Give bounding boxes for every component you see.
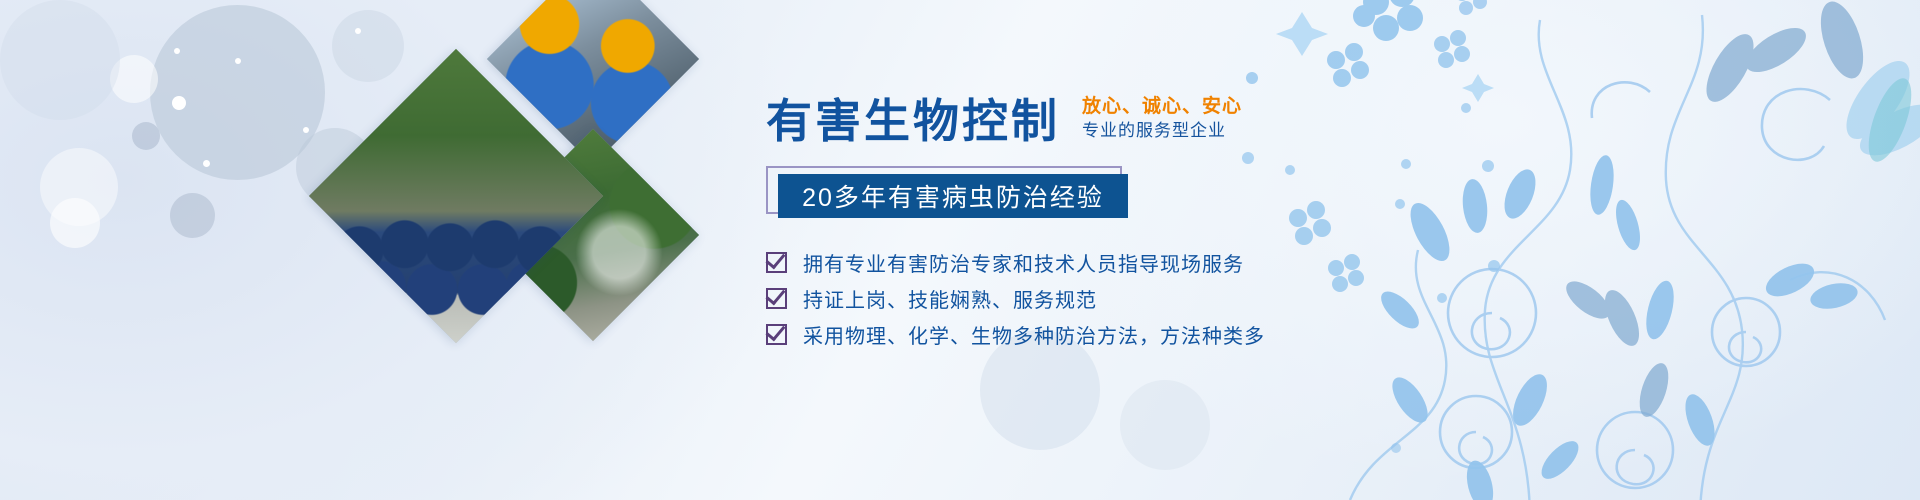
bokeh-circle [110,55,158,103]
bokeh-circle [170,193,215,238]
banner-content: 有害生物控制 放心、诚心、安心 专业的服务型企业 20多年有害病虫防治经验 拥有… [766,96,1526,352]
title-row: 有害生物控制 放心、诚心、安心 专业的服务型企业 [766,96,1526,144]
bokeh-circle [0,0,120,120]
bokeh-circle [40,148,118,226]
feature-label: 持证上岗、技能娴熟、服务规范 [803,284,1097,313]
bokeh-circle [150,5,325,180]
feature-list: 拥有专业有害防治专家和技术人员指导现场服务 持证上岗、技能娴熟、服务规范 采用物… [766,244,1526,352]
slogan-primary: 放心、诚心、安心 [1082,96,1242,118]
checkbox-checked-icon [766,324,787,345]
badge-fill: 20多年有害病虫防治经验 [778,174,1128,218]
list-item: 采用物理、化学、生物多种防治方法，方法种类多 [766,316,1526,352]
slogan-secondary: 专业的服务型企业 [1082,121,1242,141]
feature-label: 拥有专业有害防治专家和技术人员指导现场服务 [803,248,1244,277]
checkbox-checked-icon [766,252,787,273]
checkbox-checked-icon [766,288,787,309]
bokeh-dot [203,160,210,167]
page-title: 有害生物控制 [766,98,1060,144]
list-item: 持证上岗、技能娴熟、服务规范 [766,280,1526,316]
photo-diamond-collage [300,0,720,412]
bokeh-circle [1120,380,1210,470]
slogan-block: 放心、诚心、安心 专业的服务型企业 [1082,96,1242,144]
bokeh-circle [132,122,160,150]
promo-banner: 有害生物控制 放心、诚心、安心 专业的服务型企业 20多年有害病虫防治经验 拥有… [0,0,1920,500]
badge-label: 20多年有害病虫防治经验 [802,178,1104,214]
bokeh-dot [174,48,180,54]
bokeh-dot [172,96,186,110]
list-item: 拥有专业有害防治专家和技术人员指导现场服务 [766,244,1526,280]
bokeh-circle [50,198,100,248]
experience-badge: 20多年有害病虫防治经验 [766,166,1136,218]
feature-label: 采用物理、化学、生物多种防治方法，方法种类多 [803,320,1265,349]
bokeh-dot [235,58,241,64]
